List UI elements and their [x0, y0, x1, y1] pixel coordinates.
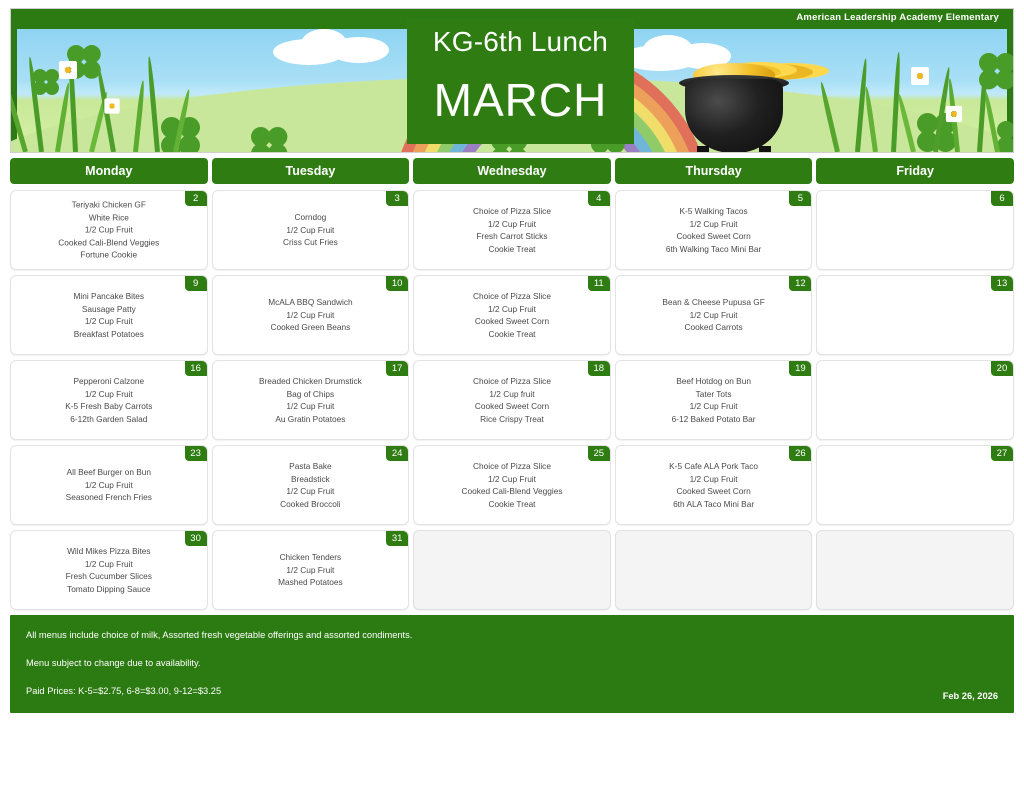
- calendar-day-cell[interactable]: 25Choice of Pizza Slice1/2 Cup FruitCook…: [413, 445, 611, 525]
- menu-item: Pepperoni Calzone: [16, 375, 202, 388]
- pot-of-gold-icon: [679, 57, 789, 153]
- menu-item: Cooked Broccoli: [218, 498, 404, 511]
- pot-body: [685, 79, 783, 153]
- date-badge: 3: [386, 191, 408, 206]
- cloud-icon: [329, 37, 389, 63]
- month-title: MARCH: [407, 64, 634, 144]
- date-badge: 20: [991, 361, 1013, 376]
- calendar-day-cell[interactable]: 30Wild Mikes Pizza Bites1/2 Cup FruitFre…: [10, 530, 208, 610]
- menu-item-list: Chicken Tenders1/2 Cup FruitMashed Potat…: [213, 551, 409, 589]
- menu-item: 1/2 Cup Fruit: [419, 472, 605, 485]
- calendar-week-row: 2Teriyaki Chicken GFWhite Rice1/2 Cup Fr…: [10, 190, 1014, 270]
- menu-item: Criss Cut Fries: [218, 236, 404, 249]
- day-header-tuesday: Tuesday: [212, 158, 410, 184]
- menu-item: Fortune Cookie: [16, 249, 202, 262]
- calendar-day-cell[interactable]: 23All Beef Burger on Bun1/2 Cup FruitSea…: [10, 445, 208, 525]
- menu-item: Tater Tots: [621, 387, 807, 400]
- menu-item: 6th ALA Taco Mini Bar: [621, 498, 807, 511]
- menu-calendar: MondayTuesdayWednesdayThursdayFriday 2Te…: [10, 158, 1014, 610]
- menu-item: 1/2 Cup Fruit: [218, 224, 404, 237]
- menu-item: Seasoned French Fries: [16, 491, 202, 504]
- menu-item: Beef Hotdog on Bun: [621, 375, 807, 388]
- menu-item: Cookie Treat: [419, 328, 605, 341]
- date-badge: 5: [789, 191, 811, 206]
- calendar-day-cell[interactable]: 2Teriyaki Chicken GFWhite Rice1/2 Cup Fr…: [10, 190, 208, 270]
- date-badge: 30: [185, 531, 207, 546]
- date-badge: 10: [386, 276, 408, 291]
- menu-item: 1/2 Cup Fruit: [218, 564, 404, 577]
- menu-item-list: Choice of Pizza Slice1/2 Cup fruitCooked…: [414, 375, 610, 425]
- day-header-wednesday: Wednesday: [413, 158, 611, 184]
- date-badge: 9: [185, 276, 207, 291]
- menu-item-list: Wild Mikes Pizza Bites1/2 Cup FruitFresh…: [11, 545, 207, 595]
- calendar-day-cell[interactable]: 20: [816, 360, 1014, 440]
- menu-item: 1/2 Cup Fruit: [621, 400, 807, 413]
- date-badge: 4: [588, 191, 610, 206]
- date-badge: 27: [991, 446, 1013, 461]
- footer-line-1: All menus include choice of milk, Assort…: [26, 629, 998, 641]
- menu-item-list: Pasta BakeBreadstick1/2 Cup FruitCooked …: [213, 460, 409, 510]
- calendar-day-cell[interactable]: 11Choice of Pizza Slice1/2 Cup FruitCook…: [413, 275, 611, 355]
- menu-item: All Beef Burger on Bun: [16, 466, 202, 479]
- calendar-day-cell[interactable]: 4Choice of Pizza Slice1/2 Cup FruitFresh…: [413, 190, 611, 270]
- menu-item-list: K-5 Cafe ALA Pork Taco1/2 Cup FruitCooke…: [616, 460, 812, 510]
- menu-item: K-5 Walking Tacos: [621, 205, 807, 218]
- calendar-day-cell[interactable]: 18Choice of Pizza Slice1/2 Cup fruitCook…: [413, 360, 611, 440]
- menu-item: Breaded Chicken Drumstick: [218, 375, 404, 388]
- date-badge: 6: [991, 191, 1013, 206]
- menu-item: 1/2 Cup Fruit: [621, 472, 807, 485]
- menu-item: 6-12th Garden Salad: [16, 413, 202, 426]
- calendar-week-row: 23All Beef Burger on Bun1/2 Cup FruitSea…: [10, 445, 1014, 525]
- calendar-cell-empty[interactable]: [413, 530, 611, 610]
- calendar-day-cell[interactable]: 27: [816, 445, 1014, 525]
- menu-item: Cookie Treat: [419, 243, 605, 256]
- calendar-day-cell[interactable]: 5K-5 Walking Tacos1/2 Cup FruitCooked Sw…: [615, 190, 813, 270]
- menu-item: 1/2 Cup Fruit: [218, 400, 404, 413]
- date-badge: 25: [588, 446, 610, 461]
- menu-item: 1/2 Cup Fruit: [16, 557, 202, 570]
- menu-item: Bean & Cheese Pupusa GF: [621, 296, 807, 309]
- menu-item: 1/2 Cup Fruit: [218, 309, 404, 322]
- menu-item: 1/2 Cup Fruit: [419, 302, 605, 315]
- menu-item: 1/2 Cup Fruit: [218, 485, 404, 498]
- menu-item: 6-12 Baked Potato Bar: [621, 413, 807, 426]
- left-grass-cluster: [15, 34, 195, 152]
- menu-item: Breadstick: [218, 472, 404, 485]
- date-badge: 23: [185, 446, 207, 461]
- menu-audience-title: KG-6th Lunch: [407, 19, 634, 64]
- calendar-weeks: 2Teriyaki Chicken GFWhite Rice1/2 Cup Fr…: [10, 190, 1014, 610]
- day-header-thursday: Thursday: [615, 158, 813, 184]
- menu-item-list: Choice of Pizza Slice1/2 Cup FruitCooked…: [414, 460, 610, 510]
- day-of-week-header-row: MondayTuesdayWednesdayThursdayFriday: [10, 158, 1014, 184]
- date-badge: 17: [386, 361, 408, 376]
- daisy-flower-icon: [104, 98, 119, 113]
- calendar-week-row: 30Wild Mikes Pizza Bites1/2 Cup FruitFre…: [10, 530, 1014, 610]
- menu-item: Mini Pancake Bites: [16, 290, 202, 303]
- menu-item-list: Corndog1/2 Cup FruitCriss Cut Fries: [213, 211, 409, 249]
- menu-item: Cooked Sweet Corn: [419, 400, 605, 413]
- calendar-day-cell[interactable]: 6: [816, 190, 1014, 270]
- menu-item: Cookie Treat: [419, 498, 605, 511]
- daisy-flower-icon: [911, 67, 929, 85]
- calendar-cell-empty[interactable]: [816, 530, 1014, 610]
- calendar-day-cell[interactable]: 13: [816, 275, 1014, 355]
- daisy-flower-icon: [59, 61, 77, 79]
- menu-item: Choice of Pizza Slice: [419, 375, 605, 388]
- menu-item: 1/2 Cup Fruit: [621, 217, 807, 230]
- calendar-day-cell[interactable]: 12Bean & Cheese Pupusa GF1/2 Cup FruitCo…: [615, 275, 813, 355]
- menu-item: Au Gratin Potatoes: [218, 413, 404, 426]
- menu-item: Cooked Sweet Corn: [621, 485, 807, 498]
- day-header-friday: Friday: [816, 158, 1014, 184]
- calendar-week-row: 9Mini Pancake BitesSausage Patty1/2 Cup …: [10, 275, 1014, 355]
- menu-item-list: Choice of Pizza Slice1/2 Cup FruitFresh …: [414, 205, 610, 255]
- menu-item-list: Beef Hotdog on BunTater Tots1/2 Cup Frui…: [616, 375, 812, 425]
- menu-item: Choice of Pizza Slice: [419, 205, 605, 218]
- calendar-day-cell[interactable]: 31Chicken Tenders1/2 Cup FruitMashed Pot…: [212, 530, 410, 610]
- menu-item-list: McALA BBQ Sandwich1/2 Cup FruitCooked Gr…: [213, 296, 409, 334]
- menu-item: 1/2 Cup Fruit: [16, 315, 202, 328]
- calendar-day-cell[interactable]: 19Beef Hotdog on BunTater Tots1/2 Cup Fr…: [615, 360, 813, 440]
- calendar-day-cell[interactable]: 9Mini Pancake BitesSausage Patty1/2 Cup …: [10, 275, 208, 355]
- menu-item: Teriyaki Chicken GF: [16, 199, 202, 212]
- pot-leg: [697, 146, 709, 153]
- lunch-menu-page: American Leadership Academy Elementary K…: [0, 0, 1024, 791]
- menu-item: Fresh Carrot Sticks: [419, 230, 605, 243]
- menu-item: Breakfast Potatoes: [16, 328, 202, 341]
- menu-item: 1/2 Cup Fruit: [16, 224, 202, 237]
- date-badge: 31: [386, 531, 408, 546]
- date-badge: 12: [789, 276, 811, 291]
- calendar-week-row: 16Pepperoni Calzone1/2 Cup FruitK-5 Fres…: [10, 360, 1014, 440]
- menu-item: 1/2 Cup Fruit: [16, 387, 202, 400]
- menu-item: Pasta Bake: [218, 460, 404, 473]
- calendar-day-cell[interactable]: 16Pepperoni Calzone1/2 Cup FruitK-5 Fres…: [10, 360, 208, 440]
- menu-item: 1/2 Cup Fruit: [621, 309, 807, 322]
- menu-item-list: K-5 Walking Tacos1/2 Cup FruitCooked Swe…: [616, 205, 812, 255]
- menu-item: Sausage Patty: [16, 302, 202, 315]
- calendar-day-cell[interactable]: 24Pasta BakeBreadstick1/2 Cup FruitCooke…: [212, 445, 410, 525]
- menu-item: Bag of Chips: [218, 387, 404, 400]
- menu-item: McALA BBQ Sandwich: [218, 296, 404, 309]
- right-grass-cluster: [829, 34, 1009, 152]
- footer-line-2: Menu subject to change due to availabili…: [26, 657, 998, 669]
- menu-item: 6th Walking Taco Mini Bar: [621, 243, 807, 256]
- calendar-day-cell[interactable]: 3Corndog1/2 Cup FruitCriss Cut Fries: [212, 190, 410, 270]
- menu-item: Chicken Tenders: [218, 551, 404, 564]
- menu-item: 1/2 Cup Fruit: [16, 479, 202, 492]
- calendar-day-cell[interactable]: 17Breaded Chicken DrumstickBag of Chips1…: [212, 360, 410, 440]
- menu-item-list: Breaded Chicken DrumstickBag of Chips1/2…: [213, 375, 409, 425]
- calendar-cell-empty[interactable]: [615, 530, 813, 610]
- date-badge: 16: [185, 361, 207, 376]
- menu-item: Tomato Dipping Sauce: [16, 583, 202, 596]
- generated-date: Feb 26, 2026: [943, 691, 998, 701]
- calendar-day-cell[interactable]: 10McALA BBQ Sandwich1/2 Cup FruitCooked …: [212, 275, 410, 355]
- footer-line-3: Paid Prices: K-5=$2.75, 6-8=$3.00, 9-12=…: [26, 685, 998, 697]
- menu-item: White Rice: [16, 211, 202, 224]
- menu-item: K-5 Cafe ALA Pork Taco: [621, 460, 807, 473]
- menu-item-list: Pepperoni Calzone1/2 Cup FruitK-5 Fresh …: [11, 375, 207, 425]
- menu-item: Choice of Pizza Slice: [419, 460, 605, 473]
- menu-item-list: All Beef Burger on Bun1/2 Cup FruitSeaso…: [11, 466, 207, 504]
- date-badge: 24: [386, 446, 408, 461]
- calendar-day-cell[interactable]: 26K-5 Cafe ALA Pork Taco1/2 Cup FruitCoo…: [615, 445, 813, 525]
- menu-item-list: Mini Pancake BitesSausage Patty1/2 Cup F…: [11, 290, 207, 340]
- daisy-flower-icon: [946, 106, 962, 122]
- menu-item-list: Bean & Cheese Pupusa GF1/2 Cup FruitCook…: [616, 296, 812, 334]
- date-badge: 19: [789, 361, 811, 376]
- footer-notes: All menus include choice of milk, Assort…: [10, 615, 1014, 713]
- menu-item: Wild Mikes Pizza Bites: [16, 545, 202, 558]
- menu-item: 1/2 Cup Fruit: [419, 217, 605, 230]
- menu-item: Cooked Cali-Blend Veggies: [16, 236, 202, 249]
- date-badge: 18: [588, 361, 610, 376]
- menu-item: Cooked Carrots: [621, 321, 807, 334]
- menu-item: Corndog: [218, 211, 404, 224]
- pot-leg: [759, 146, 771, 153]
- menu-item: 1/2 Cup fruit: [419, 387, 605, 400]
- menu-item-list: Choice of Pizza Slice1/2 Cup FruitCooked…: [414, 290, 610, 340]
- menu-item-list: Teriyaki Chicken GFWhite Rice1/2 Cup Fru…: [11, 199, 207, 262]
- menu-item: Cooked Sweet Corn: [419, 315, 605, 328]
- school-name: American Leadership Academy Elementary: [796, 12, 999, 23]
- menu-item: Cooked Sweet Corn: [621, 230, 807, 243]
- menu-item: K-5 Fresh Baby Carrots: [16, 400, 202, 413]
- menu-item: Cooked Cali-Blend Veggies: [419, 485, 605, 498]
- menu-item: Cooked Green Beans: [218, 321, 404, 334]
- date-badge: 13: [991, 276, 1013, 291]
- header-banner: American Leadership Academy Elementary K…: [10, 8, 1014, 153]
- menu-item: Choice of Pizza Slice: [419, 290, 605, 303]
- date-badge: 26: [789, 446, 811, 461]
- date-badge: 11: [588, 276, 610, 291]
- menu-item: Fresh Cucumber Slices: [16, 570, 202, 583]
- menu-item: Rice Crispy Treat: [419, 413, 605, 426]
- menu-item: Mashed Potatoes: [218, 576, 404, 589]
- banner-title-block: KG-6th Lunch MARCH: [407, 19, 634, 144]
- day-header-monday: Monday: [10, 158, 208, 184]
